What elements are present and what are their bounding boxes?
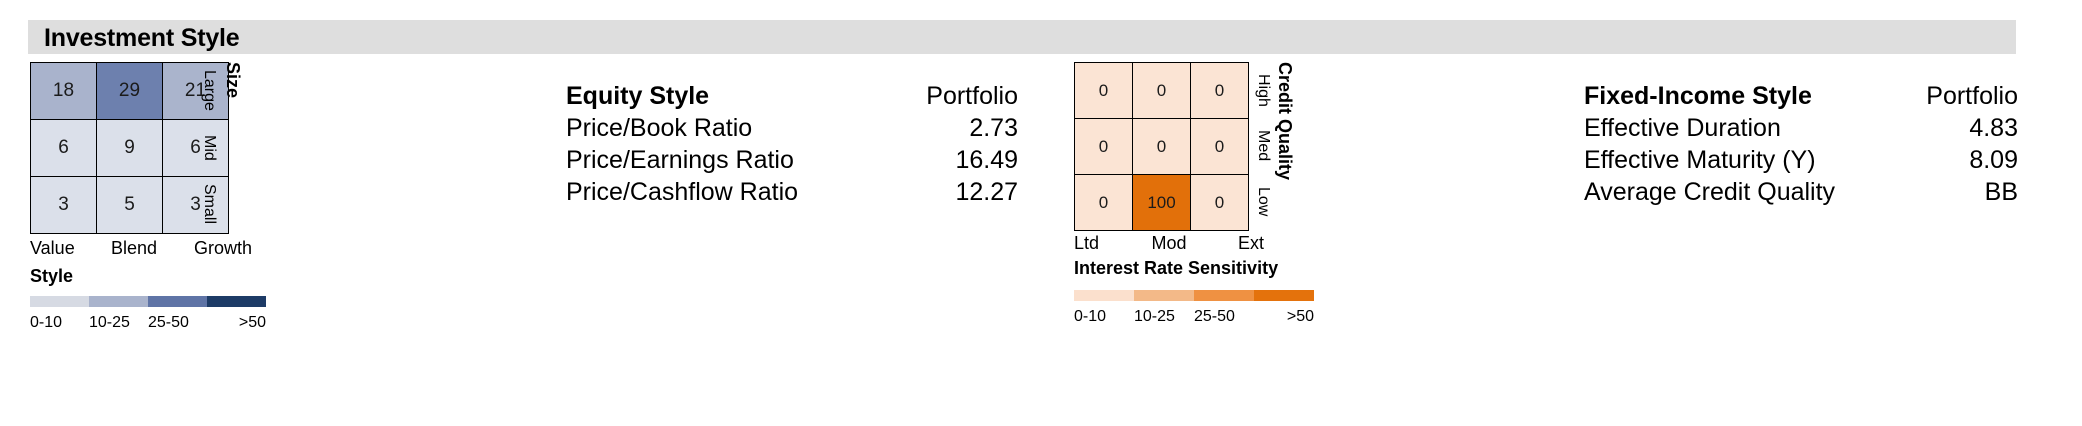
credit-legend-swatch-25-50: [1194, 290, 1254, 301]
credit-cell-med-ltd: 0: [1075, 119, 1133, 175]
equity-style-metrics: Equity Style Portfolio Price/Book Ratio …: [566, 80, 1018, 208]
credit-legend-label-0-10: 0-10: [1074, 308, 1134, 326]
metric-label-effective-duration: Effective Duration: [1584, 112, 1781, 144]
metric-label-price-book: Price/Book Ratio: [566, 112, 752, 144]
equity-cell-mid-value: 6: [31, 120, 97, 177]
equity-legend-swatch-0-10: [30, 296, 89, 307]
credit-cell-low-ext: 0: [1191, 175, 1249, 231]
credit-row-label-high: High: [1254, 62, 1272, 118]
credit-axis-caption-interest-rate-sensitivity: Interest Rate Sensitivity: [1074, 258, 1278, 279]
fixed-income-style-metrics-title: Fixed-Income Style: [1584, 80, 1812, 112]
equity-cell-mid-blend: 9: [97, 120, 163, 177]
equity-axis-title-size: Size: [222, 62, 243, 122]
equity-cell-mid-growth: 6: [163, 120, 229, 177]
metric-value-price-book: 2.73: [969, 112, 1018, 144]
metric-row-price-book: Price/Book Ratio 2.73: [566, 112, 1018, 144]
equity-col-label-growth: Growth: [170, 238, 252, 259]
metric-row-effective-duration: Effective Duration 4.83: [1584, 112, 2018, 144]
metric-row-effective-maturity: Effective Maturity (Y) 8.09: [1584, 144, 2018, 176]
table-row: 0 100 0: [1075, 175, 1249, 231]
equity-axis-caption-style: Style: [30, 266, 73, 287]
table-row: 0 0 0: [1075, 119, 1249, 175]
credit-legend-bar: [1074, 290, 1314, 301]
credit-quality-box: 0 0 0 0 0 0 0 100 0: [1074, 62, 1249, 231]
credit-legend-labels: 0-10 10-25 25-50 >50: [1074, 308, 1314, 326]
credit-cell-low-ltd: 0: [1075, 175, 1133, 231]
equity-legend-swatch-gt50: [207, 296, 266, 307]
equity-legend-swatch-25-50: [148, 296, 207, 307]
equity-style-legend: 0-10 10-25 25-50 >50: [30, 296, 266, 332]
credit-row-label-med: Med: [1254, 118, 1272, 174]
credit-cell-high-ext: 0: [1191, 63, 1249, 119]
credit-cell-med-ext: 0: [1191, 119, 1249, 175]
credit-legend-swatch-gt50: [1254, 290, 1314, 301]
page-title: Investment Style: [44, 24, 239, 53]
metric-label-price-cashflow: Price/Cashflow Ratio: [566, 176, 798, 208]
equity-cell-small-growth: 3: [163, 177, 229, 234]
table-row: 3 5 3: [31, 177, 229, 234]
equity-cell-large-value: 18: [31, 63, 97, 120]
equity-cell-large-growth: 21: [163, 63, 229, 120]
table-row: 6 9 6: [31, 120, 229, 177]
credit-legend-label-10-25: 10-25: [1134, 308, 1194, 326]
equity-legend-label-0-10: 0-10: [30, 314, 89, 332]
credit-quality-grid: 0 0 0 0 0 0 0 100 0: [1074, 62, 1249, 231]
metric-value-price-earnings: 16.49: [955, 144, 1018, 176]
credit-legend-label-gt50: >50: [1254, 308, 1314, 326]
equity-cell-large-blend: 29: [97, 63, 163, 120]
section-header-bar: [28, 20, 2016, 54]
equity-cell-small-value: 3: [31, 177, 97, 234]
credit-row-label-low: Low: [1254, 174, 1272, 230]
equity-row-label-large: Large: [200, 62, 218, 119]
credit-legend-swatch-0-10: [1074, 290, 1134, 301]
metric-label-price-earnings: Price/Earnings Ratio: [566, 144, 794, 176]
fixed-income-style-metrics-header: Fixed-Income Style Portfolio: [1584, 80, 2018, 112]
equity-col-label-value: Value: [30, 238, 98, 259]
equity-cell-small-blend: 5: [97, 177, 163, 234]
metric-value-price-cashflow: 12.27: [955, 176, 1018, 208]
equity-row-label-mid: Mid: [200, 119, 218, 176]
metric-value-effective-maturity: 8.09: [1969, 144, 2018, 176]
credit-cell-high-ltd: 0: [1075, 63, 1133, 119]
credit-quality-col-labels: Ltd Mod Ext: [1074, 233, 1280, 254]
equity-size-row-labels: Large Mid Small: [200, 62, 218, 233]
equity-style-column-header: Portfolio: [926, 80, 1018, 112]
credit-legend-swatch-10-25: [1134, 290, 1194, 301]
metric-row-price-earnings: Price/Earnings Ratio 16.49: [566, 144, 1018, 176]
credit-cell-low-mod: 100: [1133, 175, 1191, 231]
equity-style-metrics-title: Equity Style: [566, 80, 709, 112]
table-row: 0 0 0: [1075, 63, 1249, 119]
equity-style-metrics-header: Equity Style Portfolio: [566, 80, 1018, 112]
credit-legend-label-25-50: 25-50: [1194, 308, 1254, 326]
credit-col-label-ltd: Ltd: [1074, 233, 1136, 254]
equity-legend-label-10-25: 10-25: [89, 314, 148, 332]
equity-legend-label-25-50: 25-50: [148, 314, 207, 332]
equity-legend-label-gt50: >50: [207, 314, 266, 332]
equity-row-label-small: Small: [200, 176, 218, 233]
metric-label-average-credit-quality: Average Credit Quality: [1584, 176, 1835, 208]
metric-value-effective-duration: 4.83: [1969, 112, 2018, 144]
credit-axis-title-credit-quality: Credit Quality: [1274, 62, 1295, 182]
equity-legend-labels: 0-10 10-25 25-50 >50: [30, 314, 266, 332]
credit-cell-high-mod: 0: [1133, 63, 1191, 119]
credit-col-label-ext: Ext: [1202, 233, 1264, 254]
credit-cell-med-mod: 0: [1133, 119, 1191, 175]
table-row: 18 29 21: [31, 63, 229, 120]
credit-quality-legend: 0-10 10-25 25-50 >50: [1074, 290, 1314, 326]
equity-col-label-blend: Blend: [98, 238, 170, 259]
credit-col-label-mod: Mod: [1136, 233, 1202, 254]
credit-quality-row-labels: High Med Low: [1254, 62, 1272, 230]
metric-label-effective-maturity: Effective Maturity (Y): [1584, 144, 1816, 176]
metric-row-price-cashflow: Price/Cashflow Ratio 12.27: [566, 176, 1018, 208]
equity-legend-swatch-10-25: [89, 296, 148, 307]
fixed-income-style-metrics: Fixed-Income Style Portfolio Effective D…: [1584, 80, 2018, 208]
metric-row-average-credit-quality: Average Credit Quality BB: [1584, 176, 2018, 208]
metric-value-average-credit-quality: BB: [1985, 176, 2018, 208]
fixed-income-style-column-header: Portfolio: [1926, 80, 2018, 112]
equity-legend-bar: [30, 296, 266, 307]
equity-style-col-labels: Value Blend Growth: [30, 238, 260, 259]
